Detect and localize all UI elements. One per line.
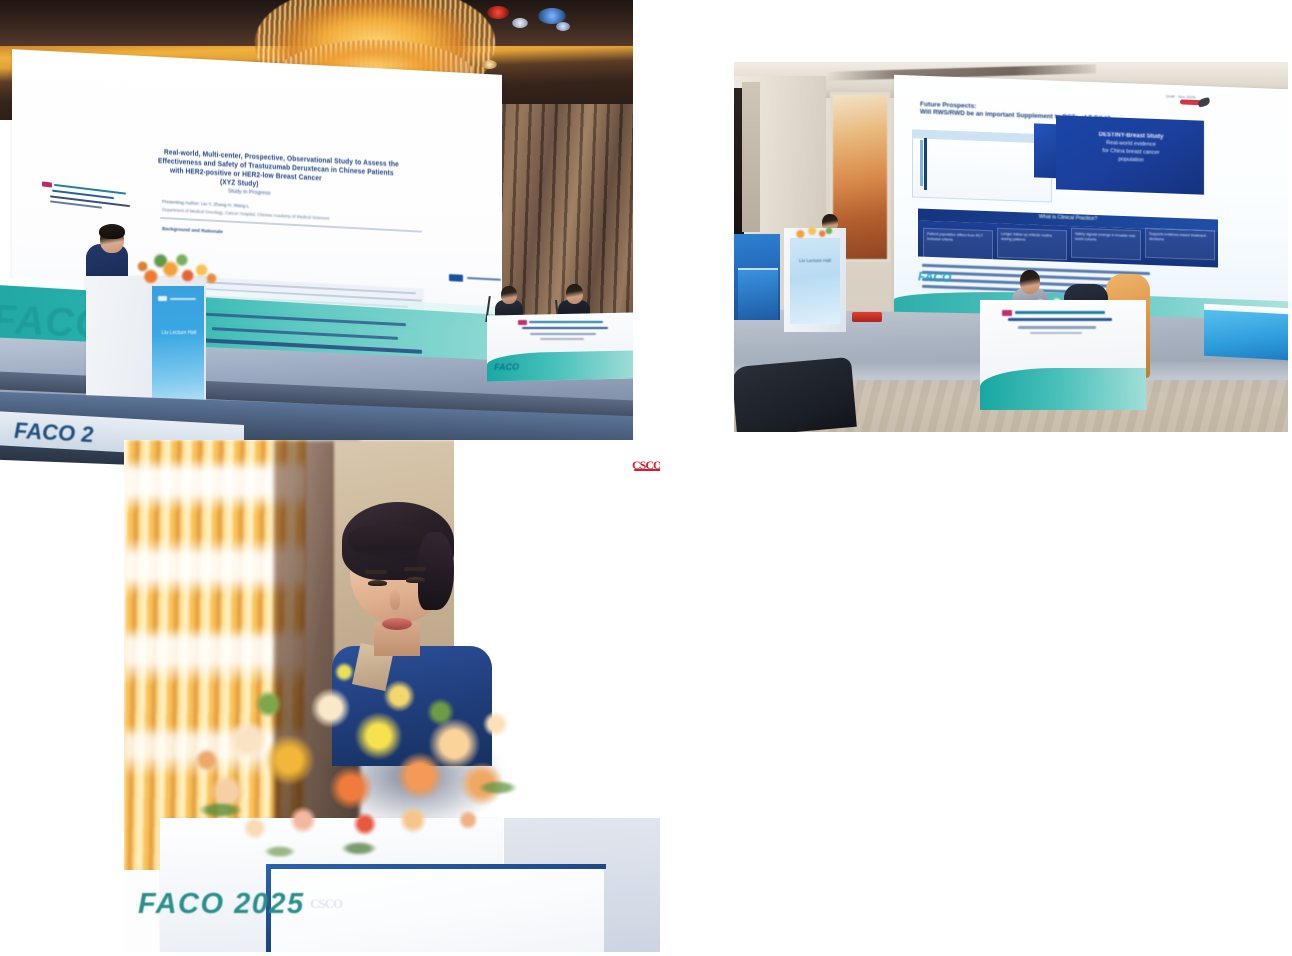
foreground-chair [734,357,857,432]
csco-logo-icon [1180,97,1212,108]
lectern-flower-arrangement [792,222,834,242]
speaker-fringe [348,524,422,558]
ceiling-spotlight-red [487,6,509,19]
lectern-logo-icon [158,296,198,303]
bouquet-foliage [194,698,524,858]
ceiling-spotlight-white [512,18,528,28]
slide-section-heading: Background and Rationale [162,227,223,235]
csco-logo: CSCO [632,454,660,472]
speaker-hair-side [418,532,454,610]
slide-faco-mark: FACO [918,269,951,284]
logo-row: CSCO 北京希思科临床肿瘤学研究基金会 Beijing Xisike Clin… [632,450,660,480]
csco-underline [634,469,660,471]
photo-collage-canvas: Real-world, Multi-center, Prospective, O… [0,0,1292,956]
lectern-label: Liu Lecture Hall [792,258,838,263]
speaker-nose [390,590,400,610]
door-frame [742,82,760,232]
front-banner-text: FACO 2 [14,418,93,448]
faco-2025-watermark: FACO 2025 [138,888,305,921]
speaker-lips [382,618,412,630]
speaker-eye-right [406,577,425,583]
photo-speaker-closeup-with-bouquet: FACO 2025 CSCO CSCO 北京希思科临床肿瘤学研究基金会 Beij… [124,440,660,952]
slide-band-cell-3: Safety signals emerge in broader real-wo… [1071,228,1141,261]
lectern-label: Liu Lecture Hall [156,330,202,336]
slide-subtitle: Study in Progress [228,188,271,196]
conference-logo-icon [42,179,138,219]
panelist-right-head [566,284,583,304]
right-banner [1204,310,1288,360]
blue-equipment-crate-lower [738,268,778,320]
lectern-front-panel [152,286,204,416]
slide-band-cell-4: Supports evidence-based treatment decisi… [1145,228,1215,261]
panel-table-faco-mark: FACO [494,362,519,373]
lectern-front-panel [790,238,840,324]
slide-chart-bar-dark [924,138,927,190]
panelist-left-head [1020,270,1040,294]
photo-stage-wide-with-panelists: Future Prospects: Will RWS/RWD be an imp… [734,62,1288,432]
slide-band-cell-1: Patient population differs from RCT incl… [923,228,993,261]
panelist-left-head [501,286,517,304]
speaker-eye-left [368,580,387,586]
speaker-hair [99,224,125,239]
panel-table-logo-icon [518,320,614,342]
panel-table-wave-graphic [980,368,1146,410]
lectern-flower-arrangement [136,248,218,294]
sponsor-logo-icon [449,272,505,289]
red-box-on-stage [852,312,882,322]
slide-title-line-4: (XYZ Study) [220,179,258,189]
panelist-right-head [1074,262,1098,290]
ceiling-spotlight-small [556,22,570,31]
ceiling-spotlight-warm [482,60,497,69]
csco-watermark: CSCO [310,896,370,914]
slide-blue-card-text: DESTINY-Breast Study Real-world evidence… [1066,130,1196,167]
speaker-eyebrow-right [404,567,426,571]
photo-speaker-at-podium-wide: Real-world, Multi-center, Prospective, O… [0,0,633,472]
panel-table-logo-icon [1002,310,1118,340]
slide-chart-bar-light [920,140,923,186]
speaker-eyebrow-left [365,570,387,574]
slide-band-cell-2: Longer follow-up reflects routine dosing… [997,228,1067,261]
